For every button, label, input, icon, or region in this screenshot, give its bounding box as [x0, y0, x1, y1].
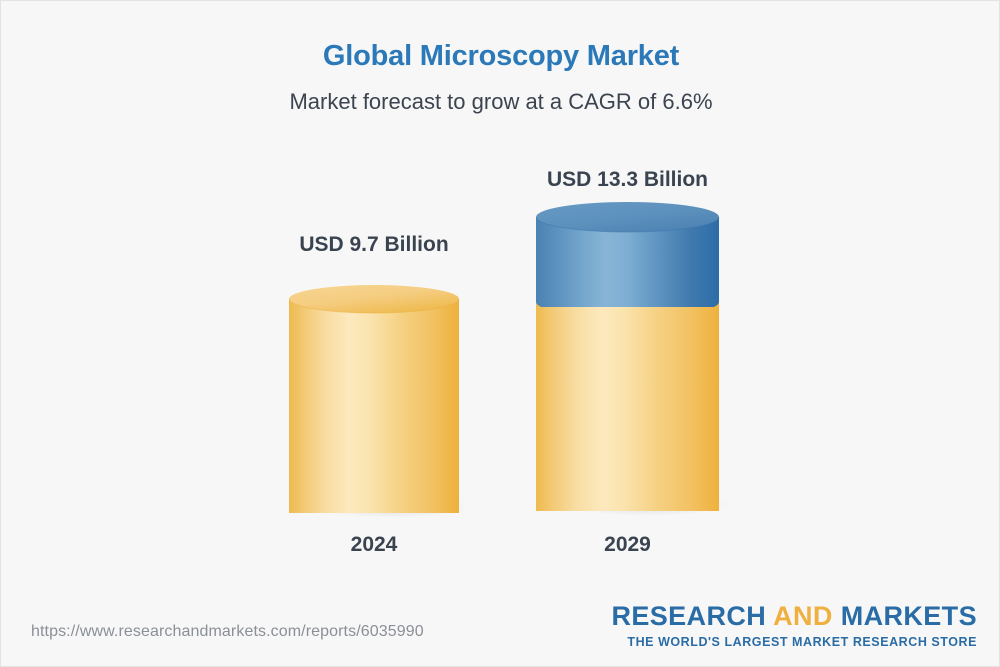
logo-word-markets: MARKETS	[841, 601, 977, 631]
infographic-chart-card: Global Microscopy Market Market forecast…	[0, 0, 1000, 667]
bar-group-2024: USD 9.7 Billion	[289, 241, 459, 511]
logo-wordmark: RESEARCH AND MARKETS	[611, 603, 977, 630]
chart-plot-area: USD 9.7 Billion	[1, 1, 1000, 601]
cylinder-2029	[536, 202, 736, 517]
logo-word-and: AND	[773, 601, 833, 631]
bar-value-label-2024: USD 9.7 Billion	[289, 233, 459, 257]
research-and-markets-logo[interactable]: RESEARCH AND MARKETS THE WORLD'S LARGEST…	[611, 603, 977, 649]
bar-category-label-2029: 2029	[536, 533, 719, 557]
bar-value-label-2029: USD 13.3 Billion	[536, 168, 719, 192]
logo-word-research: RESEARCH	[611, 601, 766, 631]
logo-tagline: THE WORLD'S LARGEST MARKET RESEARCH STOR…	[611, 636, 977, 649]
report-url[interactable]: https://www.researchandmarkets.com/repor…	[31, 623, 424, 641]
bar-group-2029: USD 13.3 Billion	[536, 161, 719, 511]
cylinder-2024	[289, 285, 474, 517]
bar-category-label-2024: 2024	[289, 533, 459, 557]
